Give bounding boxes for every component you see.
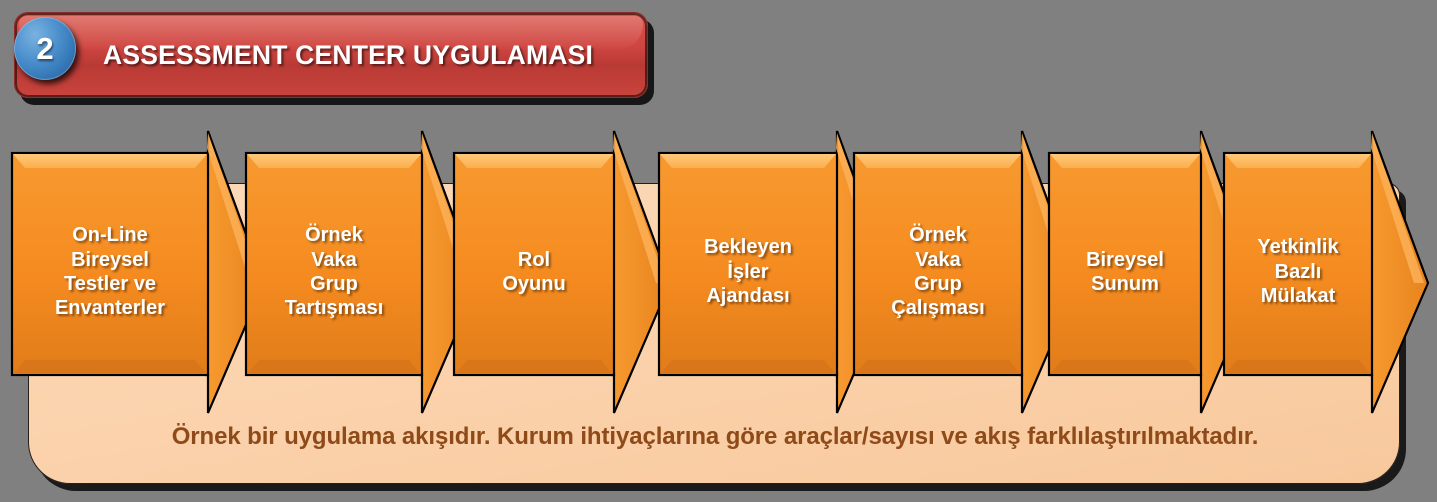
arrow-top-bevel [455, 154, 613, 168]
arrow-bottom-bevel [660, 360, 836, 374]
arrow-body [246, 153, 422, 375]
flow-caption: Örnek bir uygulama akışıdır. Kurum ihtiy… [40, 423, 1390, 451]
page-title: ASSESSMENT CENTER UYGULAMASI [103, 13, 629, 97]
arrow-bottom-bevel [455, 360, 613, 374]
arrow-top-bevel [1225, 154, 1371, 168]
arrow-top-bevel [247, 154, 421, 168]
arrow-body [1224, 153, 1372, 375]
arrow-body [12, 153, 208, 375]
arrow-bottom-bevel [855, 360, 1021, 374]
arrow-body [1049, 153, 1201, 375]
arrow-bottom-bevel [13, 360, 207, 374]
arrow-body [659, 153, 837, 375]
header-banner: ASSESSMENT CENTER UYGULAMASI [14, 12, 648, 98]
arrow-bottom-bevel [1050, 360, 1200, 374]
arrow-top-bevel [13, 154, 207, 168]
process-step-arrow: Rol Oyunu [454, 131, 680, 413]
process-step-arrow: Yetkinlik Bazlı Mülakat [1224, 131, 1437, 413]
step-number-badge: 2 [14, 17, 76, 80]
arrow-top-bevel [855, 154, 1021, 168]
arrow-top-bevel [660, 154, 836, 168]
arrow-body [454, 153, 614, 375]
process-step-arrow: On-Line Bireysel Testler ve Envanterler [12, 131, 274, 413]
arrow-bottom-bevel [247, 360, 421, 374]
process-step-arrow: Örnek Vaka Grup Tartışması [246, 131, 488, 413]
arrow-top-bevel [1050, 154, 1200, 168]
arrow-bottom-bevel [1225, 360, 1371, 374]
arrow-body [854, 153, 1022, 375]
